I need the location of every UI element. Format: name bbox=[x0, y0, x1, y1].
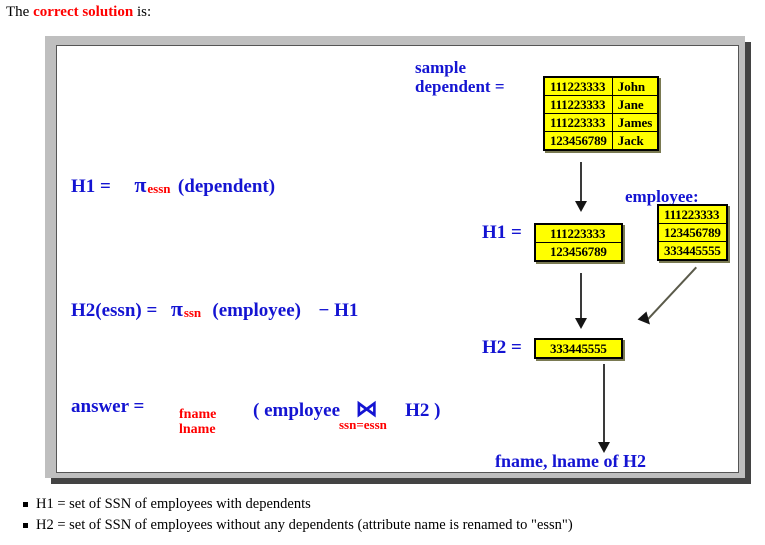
bullet-list-items: H1 = set of SSN of employees with depend… bbox=[0, 494, 765, 536]
cell-name: Jack bbox=[612, 132, 658, 151]
table-row: 123456789 bbox=[535, 243, 622, 262]
dependent-table: 111223333 John 111223333 Jane 111223333 … bbox=[543, 76, 659, 151]
h1-formula-operand: (dependent) bbox=[178, 176, 275, 197]
sample-dependent-label: sample dependent = bbox=[415, 58, 505, 96]
arrow-head-icon bbox=[575, 318, 587, 329]
heading-emphasis: correct solution bbox=[33, 4, 133, 20]
page-title: The correct solution is: bbox=[6, 4, 151, 21]
h1-formula-lhs: H1 = bbox=[71, 176, 111, 197]
sample-dependent-label-line1: sample bbox=[415, 58, 505, 77]
sample-dependent-label-line2: dependent = bbox=[415, 77, 505, 96]
cell-ssn: 111223333 bbox=[535, 224, 622, 243]
cell-name: James bbox=[612, 114, 658, 132]
cell-ssn: 111223333 bbox=[658, 205, 727, 224]
h2-formula-lhs: H2(essn) = bbox=[71, 300, 157, 321]
cell-ssn: 123456789 bbox=[535, 243, 622, 262]
h1-result-label: H1 = bbox=[482, 222, 522, 244]
bullet-square-icon bbox=[23, 502, 28, 507]
arrow-head-icon bbox=[575, 201, 587, 212]
cell-ssn: 111223333 bbox=[544, 96, 612, 114]
bullet-square-icon bbox=[23, 523, 28, 528]
table-row: 111223333 Jane bbox=[544, 96, 658, 114]
table-row: 111223333 bbox=[535, 224, 622, 243]
slide-page: The correct solution is: sample dependen… bbox=[0, 0, 765, 545]
heading-suffix: is: bbox=[133, 4, 151, 20]
table-row: 123456789 Jack bbox=[544, 132, 658, 151]
cell-name: Jane bbox=[612, 96, 658, 114]
h2-formula-operand: (employee) bbox=[212, 300, 301, 321]
list-item-label: H1 = set of SSN of employees with depend… bbox=[36, 496, 311, 512]
list-item-label: H2 = set of SSN of employees without any… bbox=[36, 517, 573, 533]
h1-formula-subscript: essn bbox=[147, 181, 170, 197]
table-row: 123456789 bbox=[658, 224, 727, 242]
h2-result-table: 333445555 bbox=[534, 338, 623, 359]
h2-formula-subscript: ssn bbox=[184, 305, 201, 321]
arrow-dependent-to-h1 bbox=[580, 162, 582, 206]
h2-result-table-body: 333445555 bbox=[535, 339, 622, 358]
projection-attr-fname: fname bbox=[179, 407, 216, 422]
employee-table: 111223333 123456789 333445555 bbox=[657, 204, 728, 261]
cell-ssn: 123456789 bbox=[544, 132, 612, 151]
h1-result-table: 111223333 123456789 bbox=[534, 223, 623, 262]
h2-formula: H2(essn) = πssn (employee) − H1 bbox=[71, 296, 358, 322]
answer-formula: answer = bbox=[71, 396, 144, 418]
answer-rhs: H2 ) bbox=[405, 400, 440, 421]
cell-name: John bbox=[612, 77, 658, 96]
arrow-employee-to-h2 bbox=[645, 267, 697, 322]
employee-table-body: 111223333 123456789 333445555 bbox=[658, 205, 727, 260]
cell-ssn: 333445555 bbox=[535, 339, 622, 358]
arrow-h2-to-output bbox=[603, 364, 605, 448]
table-row: 333445555 bbox=[535, 339, 622, 358]
h2-result-label: H2 = bbox=[482, 337, 522, 359]
join-condition: ssn=essn bbox=[339, 417, 387, 433]
answer-projection-attrs: fname lname bbox=[179, 407, 216, 437]
cell-ssn: 123456789 bbox=[658, 224, 727, 242]
bullet-list: H1 = set of SSN of employees with depend… bbox=[0, 494, 765, 536]
cell-ssn: 333445555 bbox=[658, 242, 727, 261]
cell-ssn: 111223333 bbox=[544, 114, 612, 132]
heading-prefix: The bbox=[6, 4, 33, 20]
table-row: 111223333 bbox=[658, 205, 727, 224]
projection-attr-lname: lname bbox=[179, 422, 216, 437]
h1-result-table-body: 111223333 123456789 bbox=[535, 224, 622, 261]
pi-symbol: π bbox=[134, 172, 146, 197]
h1-formula: H1 = πessn (dependent) bbox=[71, 172, 275, 198]
answer-formula-lhs: answer = bbox=[71, 396, 144, 417]
figure-frame: sample dependent = 111223333 John 111223… bbox=[45, 36, 745, 478]
answer-open-paren: ( employee bbox=[253, 400, 340, 421]
dependent-table-body: 111223333 John 111223333 Jane 111223333 … bbox=[544, 77, 658, 150]
table-row: 111223333 James bbox=[544, 114, 658, 132]
final-output-label: fname, lname of H2 bbox=[495, 451, 646, 472]
figure-canvas: sample dependent = 111223333 John 111223… bbox=[56, 45, 739, 473]
table-row: 111223333 John bbox=[544, 77, 658, 96]
list-item: H1 = set of SSN of employees with depend… bbox=[36, 494, 765, 515]
h2-formula-minus: − H1 bbox=[319, 300, 359, 321]
cell-ssn: 111223333 bbox=[544, 77, 612, 96]
table-row: 333445555 bbox=[658, 242, 727, 261]
list-item: H2 = set of SSN of employees without any… bbox=[36, 515, 765, 536]
pi-symbol: π bbox=[171, 296, 183, 321]
